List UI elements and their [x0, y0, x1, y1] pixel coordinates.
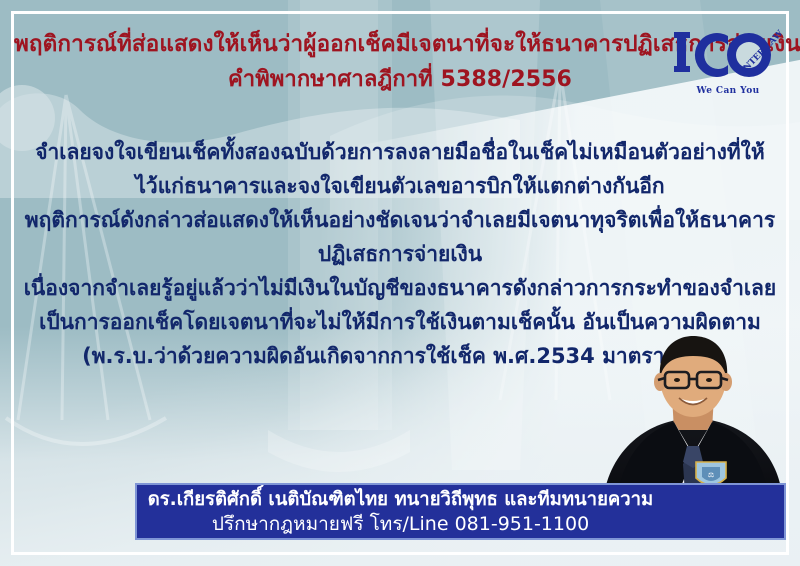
body-line-1: จำเลยจงใจเขียนเช็คทั้งสองฉบับด้วยการลงลา… [18, 135, 782, 169]
contact-banner: ดร.เกียรติศักดิ์ เนติบัณฑิตไทย ทนายวิถีพ… [135, 483, 786, 540]
body-line-2: ไว้แก่ธนาคารและจงใจเขียนตัวเลขอารบิกให้แ… [18, 169, 782, 203]
lawyer-name-line: ดร.เกียรติศักดิ์ เนติบัณฑิตไทย ทนายวิถีพ… [148, 487, 774, 512]
ico-logo-tagline: We Can You [674, 86, 782, 96]
page-title: พฤติการณ์ที่ส่อแสดงให้เห็นว่าผู้ออกเช็คม… [14, 26, 786, 98]
title-line-1: พฤติการณ์ที่ส่อแสดงให้เห็นว่าผู้ออกเช็คม… [14, 26, 786, 62]
title-line-2: คำพิพากษาศาลฎีกาที่ 5388/2556 [14, 62, 786, 98]
body-line-3: พฤติการณ์ดังกล่าวส่อแสดงให้เห็นอย่างชัดเ… [18, 203, 782, 237]
svg-text:⚖: ⚖ [708, 471, 714, 479]
ico-logo: INTER LAW We Can You [674, 22, 782, 98]
body-line-5: เนื่องจากจำเลยรู้อยู่แล้วว่าไม่มีเงินในบ… [18, 271, 782, 305]
body-line-4: ปฏิเสธการจ่ายเงิน [18, 237, 782, 271]
contact-phone-line: ปรึกษากฎหมายฟรี โทร/Line 081-951-1100 [212, 512, 709, 537]
poster-canvas: พฤติการณ์ที่ส่อแสดงให้เห็นว่าผู้ออกเช็คม… [0, 0, 800, 566]
poster-content: พฤติการณ์ที่ส่อแสดงให้เห็นว่าผู้ออกเช็คม… [0, 0, 800, 566]
ico-logo-mark: INTER LAW [674, 22, 782, 86]
